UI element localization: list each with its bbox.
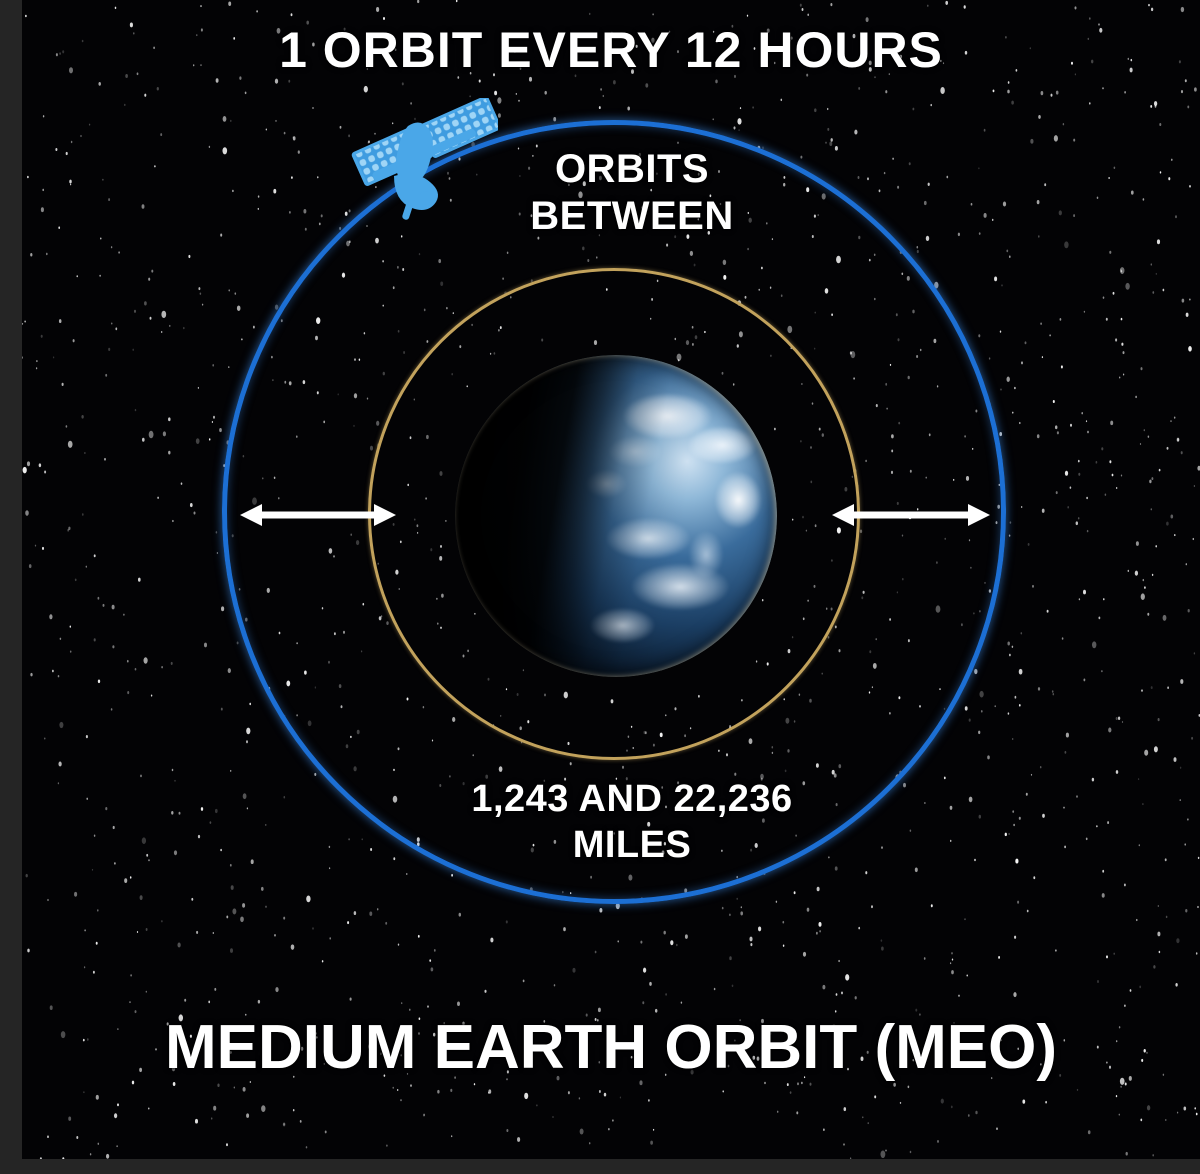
- altitude-measure-arrow-left: [240, 503, 396, 527]
- orbit-period-title: 1 ORBIT EVERY 12 HOURS: [22, 22, 1200, 78]
- altitude-range-value: 1,243 AND 22,236 MILES: [352, 777, 912, 868]
- orbits-between-label: ORBITS BETWEEN: [412, 146, 852, 240]
- earth-sunlit-limb: [455, 355, 777, 677]
- altitude-measure-arrow-right: [832, 503, 990, 527]
- image-frame: 1 ORBIT EVERY 12 HOURS ORBITS BETWEEN 1,…: [0, 0, 1200, 1174]
- orbit-type-caption: MEDIUM EARTH ORBIT (MEO): [22, 1013, 1200, 1082]
- earth-globe: [455, 355, 777, 677]
- space-scene: 1 ORBIT EVERY 12 HOURS ORBITS BETWEEN 1,…: [22, 0, 1200, 1159]
